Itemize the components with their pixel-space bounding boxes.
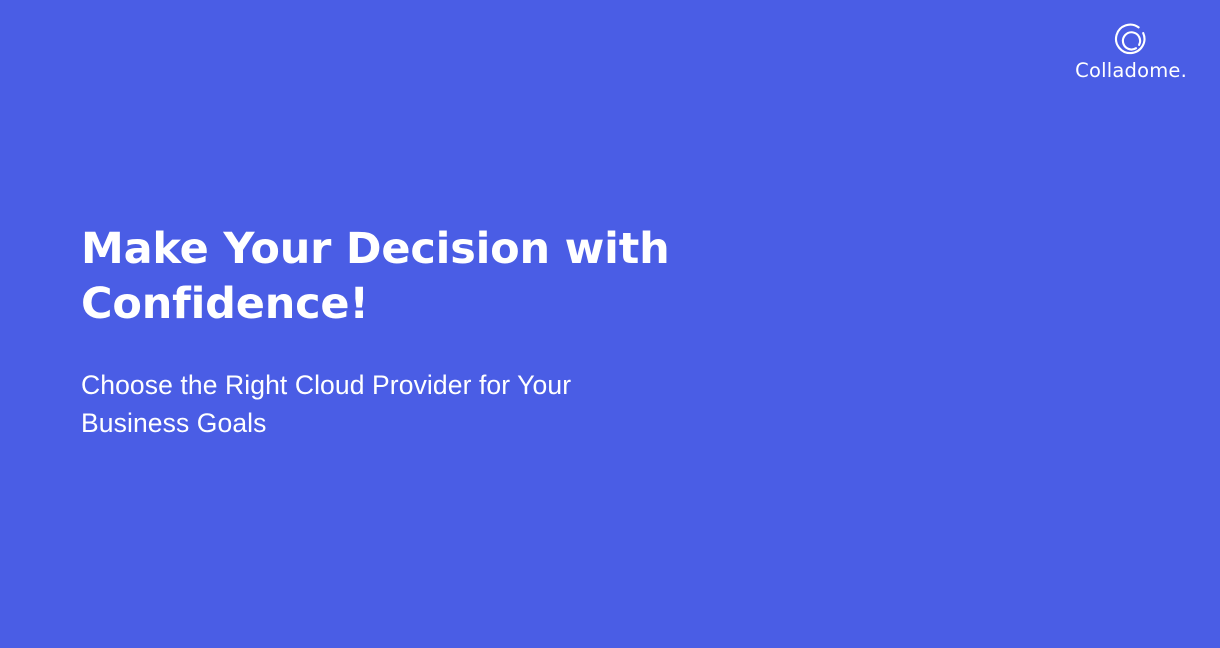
slide-text-block: Make Your Decision with Confidence! Choo…	[81, 222, 721, 442]
page-title: Make Your Decision with Confidence!	[81, 222, 721, 332]
colladome-spiral-circle-icon	[1113, 22, 1149, 58]
slide-canvas: Colladome. Make Your Decision with Confi…	[0, 0, 1220, 648]
brand-logo[interactable]: Colladome.	[1075, 22, 1187, 81]
page-subtitle: Choose the Right Cloud Provider for Your…	[81, 366, 721, 442]
brand-wordmark: Colladome.	[1075, 61, 1187, 81]
